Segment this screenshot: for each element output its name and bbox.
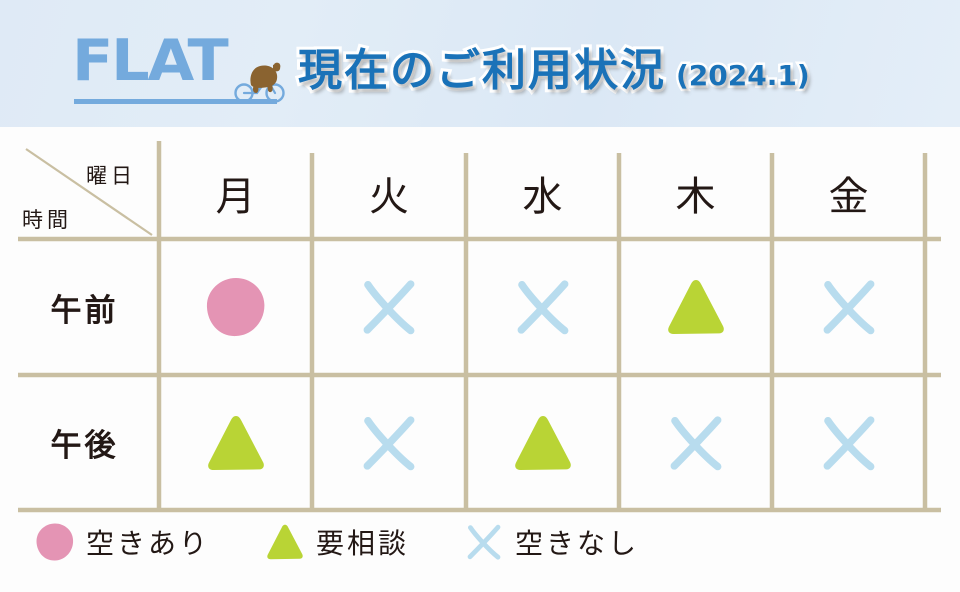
cell-morning-tue xyxy=(312,239,466,375)
flat-logo: FLAT xyxy=(72,33,287,105)
legend-item-triangle: 要相談 xyxy=(264,519,409,565)
header-banner: FLAT 現在のご利用状況 (2024.1) xyxy=(0,0,960,127)
column-header-tue: 火 xyxy=(312,147,466,239)
legend: 空きあり要相談空きなし xyxy=(34,519,693,565)
corner-label-weekday: 曜日 xyxy=(86,160,136,190)
corner-label-time: 時間 xyxy=(22,204,72,234)
cell-morning-mon xyxy=(159,239,312,375)
legend-item-circle: 空きあり xyxy=(34,519,210,565)
cross-icon xyxy=(358,412,420,474)
legend-label: 空きあり xyxy=(86,522,210,562)
cell-morning-wed xyxy=(466,239,619,375)
row-header-afternoon: 午後 xyxy=(10,375,159,510)
cross-icon xyxy=(512,276,574,338)
cross-icon xyxy=(818,276,880,338)
triangle-icon xyxy=(510,410,576,476)
legend-label: 空きなし xyxy=(515,522,639,562)
circle-icon xyxy=(203,274,269,340)
triangle-icon xyxy=(203,410,269,476)
page-title-group: 現在のご利用状況 (2024.1) xyxy=(298,34,810,100)
cell-afternoon-thu xyxy=(619,375,772,510)
cross-icon xyxy=(358,276,420,338)
cell-afternoon-fri xyxy=(772,375,925,510)
row-header-morning: 午前 xyxy=(10,239,159,375)
availability-schedule-page: FLAT 現在のご利用状況 (2024.1) xyxy=(0,0,960,592)
cell-afternoon-mon xyxy=(159,375,312,510)
column-header-mon: 月 xyxy=(159,147,312,239)
column-header-thu: 木 xyxy=(619,147,772,239)
cell-afternoon-wed xyxy=(466,375,619,510)
page-title: 現在のご利用状況 xyxy=(298,34,666,98)
page-title-date: (2024.1) xyxy=(676,59,810,92)
logo-wordmark: FLAT xyxy=(72,33,227,90)
legend-item-cross: 空きなし xyxy=(463,519,639,565)
legend-triangle-icon xyxy=(264,519,306,565)
legend-cross-icon xyxy=(463,519,505,565)
cell-morning-thu xyxy=(619,239,772,375)
column-header-wed: 水 xyxy=(466,147,619,239)
cross-icon xyxy=(818,412,880,474)
bear-on-bicycle-icon xyxy=(232,55,287,103)
cell-afternoon-tue xyxy=(312,375,466,510)
triangle-icon xyxy=(663,274,729,340)
cross-icon xyxy=(665,412,727,474)
cell-morning-fri xyxy=(772,239,925,375)
legend-label: 要相談 xyxy=(316,522,409,562)
column-header-fri: 金 xyxy=(772,147,925,239)
legend-circle-icon xyxy=(34,519,76,565)
